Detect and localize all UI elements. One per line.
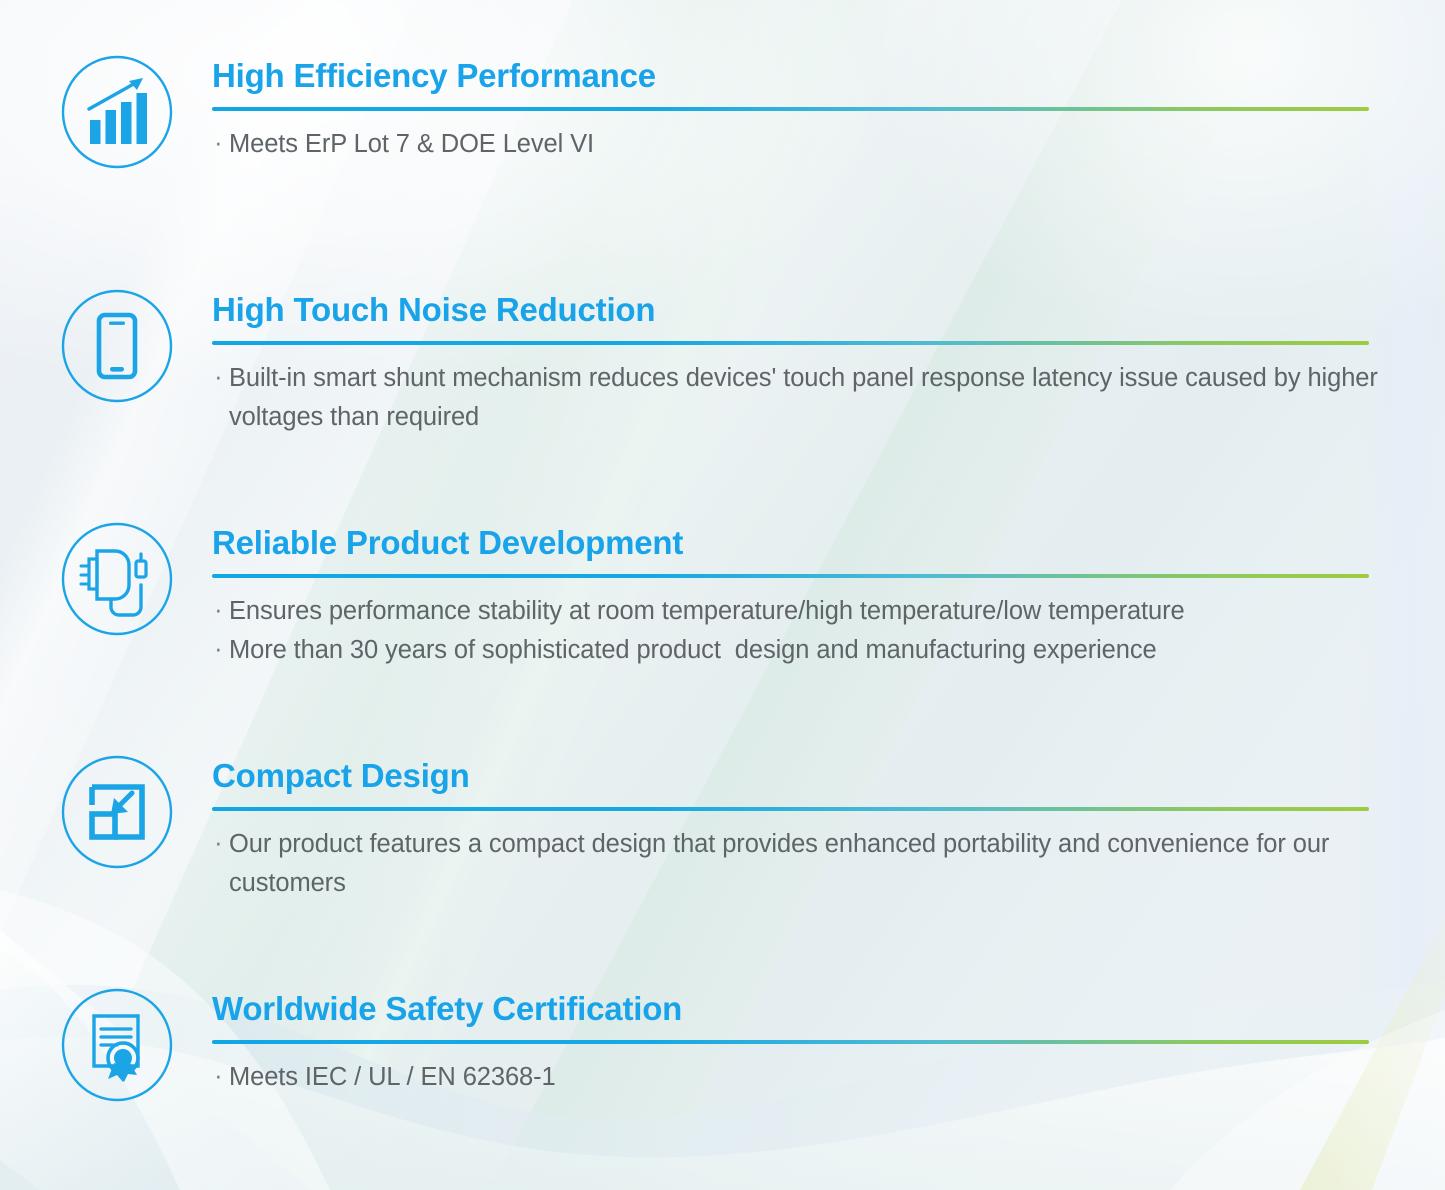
feature-icon-wrap	[55, 752, 179, 870]
feature-divider	[212, 107, 1369, 111]
feature-title: Reliable Product Development	[212, 525, 1445, 562]
feature-item-worldwide-safety-certification: Worldwide Safety Certification Meets IEC…	[0, 985, 1445, 1103]
feature-title: Worldwide Safety Certification	[212, 991, 1445, 1028]
feature-title: High Efficiency Performance	[212, 58, 1445, 95]
feature-bullets: Meets IEC / UL / EN 62368-1	[212, 1058, 1445, 1097]
feature-bullet: Built-in smart shunt mechanism reduces d…	[212, 359, 1445, 437]
feature-item-reliable-product-development: Reliable Product Development Ensures per…	[0, 519, 1445, 669]
feature-divider	[212, 341, 1369, 345]
smartphone-icon	[59, 288, 175, 404]
feature-icon-wrap	[55, 519, 179, 637]
feature-divider	[212, 807, 1369, 811]
feature-text-block: Compact Design Our product features a co…	[212, 752, 1445, 902]
feature-bullet: Ensures performance stability at room te…	[212, 592, 1445, 631]
feature-highlights-page: High Efficiency Performance Meets ErP Lo…	[0, 0, 1445, 1190]
feature-bullets: Our product features a compact design th…	[212, 825, 1445, 903]
feature-item-high-touch-noise-reduction: High Touch Noise Reduction Built-in smar…	[0, 286, 1445, 436]
bar-chart-growth-icon	[59, 54, 175, 170]
feature-icon-wrap	[55, 52, 179, 170]
feature-item-high-efficiency-performance: High Efficiency Performance Meets ErP Lo…	[0, 52, 1445, 170]
feature-title: Compact Design	[212, 758, 1445, 795]
feature-bullets: Built-in smart shunt mechanism reduces d…	[212, 359, 1445, 437]
feature-bullets: Meets ErP Lot 7 & DOE Level VI	[212, 125, 1445, 164]
compact-resize-icon	[59, 754, 175, 870]
feature-icon-wrap	[55, 286, 179, 404]
power-adapter-icon	[59, 521, 175, 637]
feature-bullet: Meets IEC / UL / EN 62368-1	[212, 1058, 1445, 1097]
feature-bullets: Ensures performance stability at room te…	[212, 592, 1445, 670]
feature-text-block: High Touch Noise Reduction Built-in smar…	[212, 286, 1445, 436]
feature-text-block: Reliable Product Development Ensures per…	[212, 519, 1445, 669]
feature-divider	[212, 574, 1369, 578]
feature-bullet: Our product features a compact design th…	[212, 825, 1445, 903]
feature-bullet: Meets ErP Lot 7 & DOE Level VI	[212, 125, 1445, 164]
certificate-award-icon	[59, 987, 175, 1103]
feature-divider	[212, 1040, 1369, 1044]
feature-item-compact-design: Compact Design Our product features a co…	[0, 752, 1445, 902]
feature-text-block: Worldwide Safety Certification Meets IEC…	[212, 985, 1445, 1097]
feature-icon-wrap	[55, 985, 179, 1103]
feature-text-block: High Efficiency Performance Meets ErP Lo…	[212, 52, 1445, 164]
feature-bullet: More than 30 years of sophisticated prod…	[212, 631, 1445, 670]
feature-title: High Touch Noise Reduction	[212, 292, 1445, 329]
